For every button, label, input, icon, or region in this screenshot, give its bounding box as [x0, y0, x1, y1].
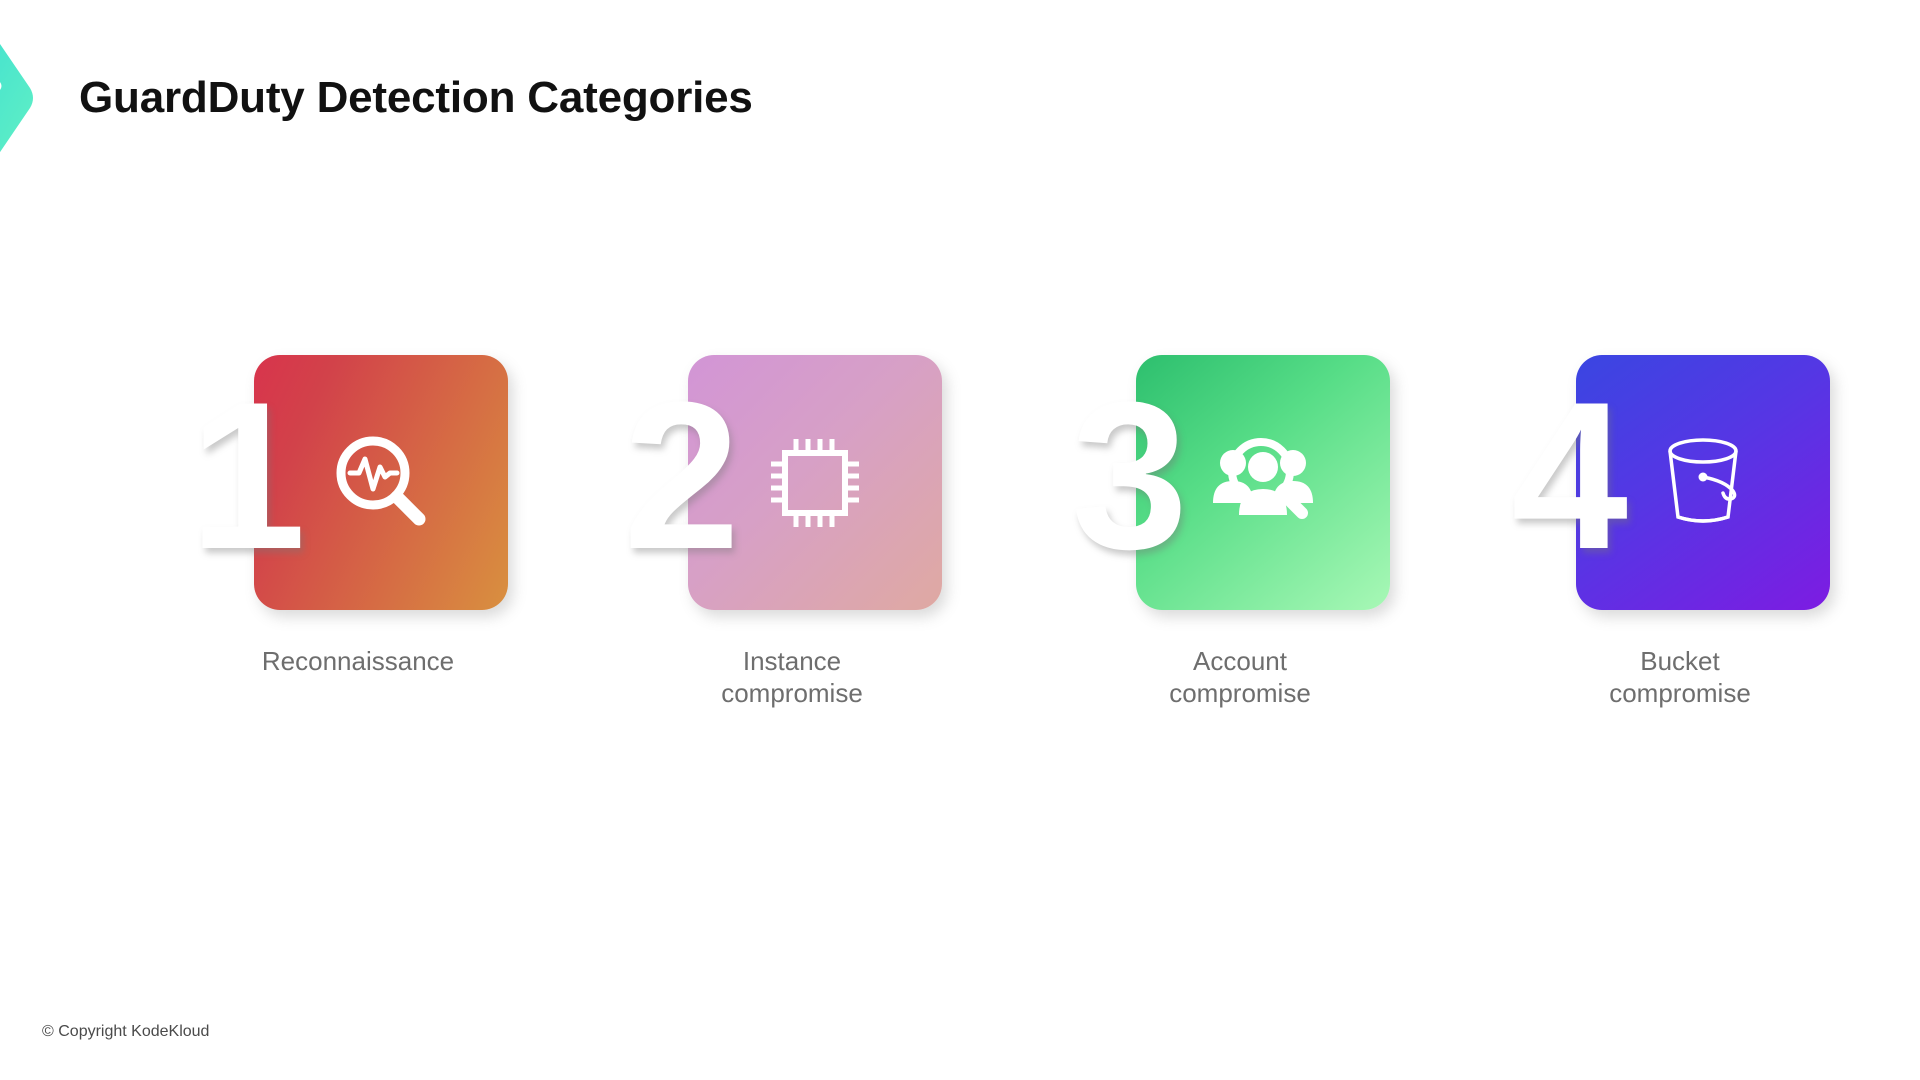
- card-label: Account compromise: [1045, 645, 1435, 709]
- magnifier-pulse-icon: [321, 423, 441, 543]
- copyright-notice: © Copyright KodeKloud: [42, 1023, 209, 1041]
- category-card-reconnaissance[interactable]: 1 Reconnaissance: [208, 355, 508, 620]
- card-stack: 4: [1530, 355, 1830, 620]
- card-stack: 3: [1090, 355, 1390, 620]
- card-stack: 1: [208, 355, 508, 620]
- card-label: Bucket compromise: [1485, 645, 1875, 709]
- cpu-chip-icon: [755, 423, 875, 543]
- card-number: 3: [1018, 347, 1188, 605]
- card-number: 4: [1458, 347, 1628, 605]
- card-label: Reconnaissance: [163, 645, 553, 677]
- categories-row: 1 Reconnaissance 2: [0, 355, 1920, 755]
- brand-logo: [0, 28, 68, 168]
- category-card-instance-compromise[interactable]: 2: [642, 355, 942, 620]
- card-number: 2: [570, 347, 740, 605]
- card-number: 1: [136, 347, 306, 605]
- category-card-account-compromise[interactable]: 3 Account compromise: [1090, 355, 1390, 620]
- category-card-bucket-compromise[interactable]: 4 Bucket compromise: [1530, 355, 1830, 620]
- page-title: GuardDuty Detection Categories: [79, 73, 753, 123]
- card-stack: 2: [642, 355, 942, 620]
- users-magnifier-icon: [1203, 423, 1323, 543]
- s3-bucket-icon: [1643, 423, 1763, 543]
- chevron-logo-icon: [0, 28, 68, 168]
- card-label: Instance compromise: [597, 645, 987, 709]
